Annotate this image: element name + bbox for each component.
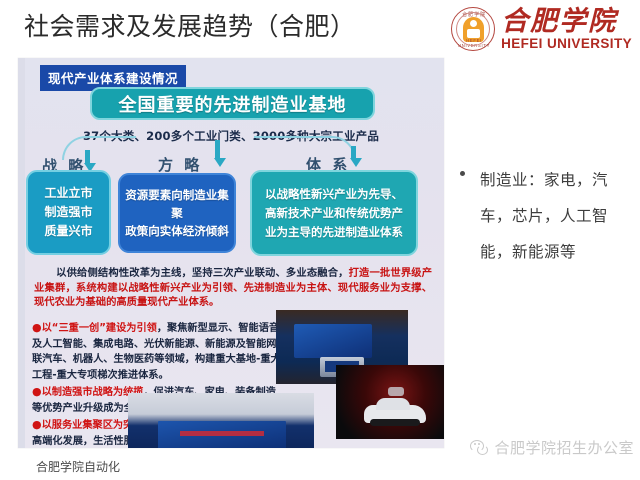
presentation-slide: 社会需求及发展趋势（合肥） 合肥学院 HEFEI UNIVERSITY 合肥学院… <box>0 0 640 480</box>
hero-banner: 全国重要的先进制造业基地 <box>90 87 375 120</box>
paragraph-segment-4: 系统构建以战略性新兴产业为引领、先进制造业为主体、现代服务业为支撑、现代农业为基… <box>34 282 432 309</box>
right-bullet-text: 制造业：家电，汽车，芯片，人工智能，新能源等 <box>480 162 632 270</box>
summary-paragraph: 以供给侧结构性改革为主线，坚持三次产业联动、多业态融合，打造一批世界级产业集群，… <box>34 266 432 310</box>
content-box-approach: 资源要素向制造业集聚 政策向实体经济倾斜 <box>118 173 236 253</box>
logo-wordmark: 合肥学院 HEFEI UNIVERSITY <box>501 8 632 51</box>
slide-header: 社会需求及发展趋势（合肥） 合肥学院 HEFEI UNIVERSITY 合肥学院… <box>0 0 640 57</box>
stage-screen <box>294 324 372 358</box>
column-head-approach: 方 略 <box>158 154 202 175</box>
footer-label: 合肥学院自动化 <box>36 458 120 475</box>
wechat-icon <box>470 440 489 456</box>
page-title: 社会需求及发展趋势（合肥） <box>24 9 356 45</box>
conference-hall-photo <box>128 393 314 448</box>
bullet-dot-icon <box>460 171 465 176</box>
paragraph-segment-1: 以供给侧结构性改革为主线，坚持三次产业联动、多业态融合， <box>56 267 349 279</box>
car-showcase-photo <box>336 365 444 439</box>
paragraph-segment-3: ， <box>65 282 75 294</box>
logo-name-en: HEFEI UNIVERSITY <box>501 37 632 51</box>
bullet-dot-icon: ● <box>32 385 42 398</box>
watermark-label: 合肥学院招生办公室 <box>494 437 634 458</box>
system-line-3: 业为主导的先进制造业体系 <box>265 223 403 242</box>
emblem-arc-text: HEFEI UNIVERSITY <box>452 38 496 48</box>
emblem-figure-icon <box>463 17 484 42</box>
content-box-strategy: 工业立市 制造强市 质量兴市 <box>26 170 111 255</box>
strategy-line-1: 工业立市 <box>44 184 92 203</box>
approach-line-2: 政策向实体经济倾斜 <box>120 222 234 240</box>
embedded-slide-photo: 现代产业体系建设情况 全国重要的先进制造业基地 37个大类、200多个工业门类、… <box>18 58 444 448</box>
strategy-line-3: 质量兴市 <box>44 222 92 241</box>
wechat-watermark: 合肥学院招生办公室 <box>470 437 634 458</box>
content-box-system: 以战略性新兴产业为先导、 高新技术产业和传统优势产 业为主导的先进制造业体系 <box>250 170 418 256</box>
strategy-line-2: 制造强市 <box>44 203 92 222</box>
approach-line-1: 资源要素向制造业集聚 <box>120 186 234 222</box>
car-logo-icon <box>388 387 404 396</box>
system-line-2: 高新技术产业和传统优势产 <box>265 204 403 223</box>
emblem-micro-text: 合肥学院 <box>459 10 489 20</box>
university-logo: 合肥学院 HEFEI UNIVERSITY 合肥学院 HEFEI UNIVERS… <box>451 6 632 52</box>
bullet-1-lead: 以“三重一创”建设为引领 <box>42 323 157 334</box>
system-line-1: 以战略性新兴产业为先导、 <box>265 185 403 204</box>
logo-name-cn: 合肥学院 <box>501 8 632 35</box>
hero-title: 全国重要的先进制造业基地 <box>119 91 347 117</box>
arrow-down-icon-3 <box>350 158 362 167</box>
university-emblem-icon: 合肥学院 HEFEI UNIVERSITY <box>451 7 495 51</box>
bullet-dot-icon: ● <box>32 321 42 334</box>
wechat-bubble-small <box>477 445 488 455</box>
right-bullet-panel: 制造业：家电，汽车，芯片，人工智能，新能源等 <box>452 162 632 270</box>
photo-left-strip <box>18 58 25 448</box>
list-item: ●以“三重一创”建设为引领，聚焦新型显示、智能语音及人工智能、集成电路、光伏新能… <box>32 320 282 383</box>
bullet-dot-icon: ● <box>32 418 42 431</box>
hall-screen <box>158 421 286 448</box>
arrow-down-icon-2 <box>214 158 226 167</box>
arrow-stem-2 <box>215 140 220 159</box>
car-shape <box>364 405 426 423</box>
